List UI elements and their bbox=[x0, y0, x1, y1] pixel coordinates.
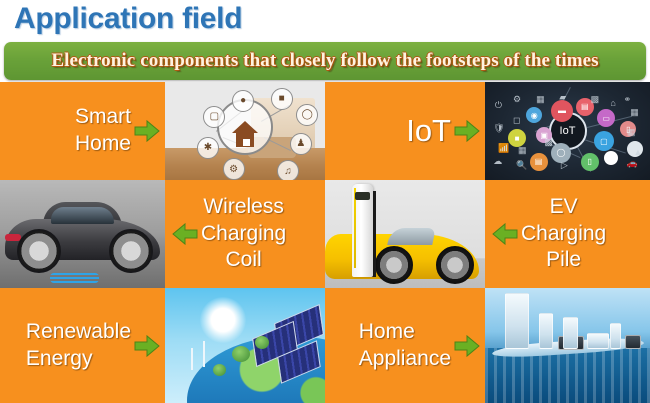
car-windshield bbox=[387, 228, 435, 245]
arrow-left-icon bbox=[492, 222, 518, 246]
cell-image-ev-charging bbox=[325, 180, 485, 288]
arrow-right-icon bbox=[454, 119, 480, 143]
wind-turbine bbox=[203, 341, 205, 367]
home-icon: ⌂ bbox=[610, 98, 615, 108]
tree-icon bbox=[213, 364, 226, 376]
label-line-1: Home bbox=[359, 320, 415, 343]
microwave bbox=[587, 333, 609, 349]
cell-iot[interactable]: IoT bbox=[325, 82, 485, 180]
smart-home-illustration: ● ■ ▢ ◯ ✱ ♟ ⚙ ♫ bbox=[165, 82, 325, 180]
arrow-right-icon bbox=[454, 334, 480, 358]
charging-pile-stripe bbox=[354, 188, 356, 268]
cell-label-iot: IoT bbox=[406, 111, 451, 151]
label-line-1: EV bbox=[550, 195, 578, 218]
keyboard-icon: ▦ bbox=[630, 107, 639, 118]
label-line-3: Coil bbox=[226, 248, 262, 271]
boiler bbox=[563, 317, 578, 349]
search-icon: 🔍 bbox=[516, 160, 527, 171]
bulb-icon: ◯ bbox=[296, 104, 318, 126]
refrigerator bbox=[505, 293, 529, 349]
sun-icon bbox=[200, 297, 246, 343]
label-line-3: Pile bbox=[546, 248, 581, 271]
cell-renewable-energy[interactable]: Renewable Energy bbox=[0, 288, 165, 403]
purifier bbox=[610, 323, 621, 349]
window-icon: ▦ bbox=[518, 145, 527, 156]
label-line-2: Appliance bbox=[359, 347, 451, 370]
shield-icon: 🛡 bbox=[493, 123, 504, 134]
yellow-car-charging-pile bbox=[325, 180, 485, 288]
label-line-2: Home bbox=[75, 132, 131, 155]
cell-smart-home[interactable]: Smart Home bbox=[0, 82, 165, 180]
wifi-icon: 📶 bbox=[498, 143, 509, 154]
label-line-2: Charging bbox=[201, 222, 286, 245]
charging-pile-display bbox=[355, 192, 371, 200]
gear-icon: ⚙ bbox=[223, 158, 245, 180]
arrow-right-icon bbox=[134, 119, 160, 143]
cell-image-home-appliance bbox=[485, 288, 650, 403]
bulb-icon: ⚭ bbox=[624, 94, 632, 105]
monitor-icon: ▬ bbox=[551, 100, 573, 122]
family-icon: ♟ bbox=[290, 133, 312, 155]
cell-image-wireless-charging bbox=[0, 180, 165, 288]
tablet-icon: ▢ bbox=[594, 131, 614, 151]
laptop-icon: ▭ bbox=[597, 109, 615, 127]
label-line-1: Renewable bbox=[26, 320, 131, 343]
tagline-text: Electronic components that closely follo… bbox=[51, 50, 598, 72]
car-side-icon: ▰ bbox=[559, 92, 566, 103]
cell-label-ev-charging-pile: EV Charging Pile bbox=[521, 194, 606, 275]
droplet-icon bbox=[604, 151, 618, 165]
cell-label-wireless-charging-coil: Wireless Charging Coil bbox=[201, 194, 286, 275]
security-camera-icon: ● bbox=[232, 90, 254, 112]
clipboard-icon: ▦ bbox=[627, 127, 636, 138]
watch-icon: ◻ bbox=[513, 115, 520, 126]
charging-pile bbox=[352, 184, 373, 277]
house-icon bbox=[232, 121, 258, 133]
wind-turbine bbox=[191, 348, 193, 370]
label-line-2: Energy bbox=[26, 347, 93, 370]
tree-icon bbox=[232, 346, 250, 362]
door-icon: ▦ bbox=[536, 94, 545, 105]
fridge-icon: ▢ bbox=[203, 106, 225, 128]
cell-label-smart-home: Smart Home bbox=[75, 104, 131, 158]
cell-home-appliance[interactable]: Home Appliance bbox=[325, 288, 485, 403]
cell-image-smart-home: ● ■ ▢ ◯ ✱ ♟ ⚙ ♫ bbox=[165, 82, 325, 180]
car-wheel bbox=[436, 246, 474, 284]
cell-label-renewable-energy: Renewable Energy bbox=[26, 319, 131, 373]
settings-icon: ⚙ bbox=[513, 94, 521, 105]
cell-image-renewable-energy bbox=[165, 288, 325, 403]
plug-icon: ■ bbox=[271, 88, 293, 110]
camera-icon: ◉ bbox=[526, 107, 542, 123]
iot-network-illustration: IoT ▬ ▤ ◉ ▭ ▯ ■ ▣ ▢ ◯ ▤ ▯ ⏻ ⚙ ▦ ▰ ▩ ⚭ 🛡 … bbox=[485, 82, 650, 180]
plug-icon: ⏻ bbox=[495, 100, 502, 111]
media-icon: ▷ bbox=[561, 160, 568, 171]
application-grid: Smart Home ● ■ ▢ ◯ ✱ ♟ ⚙ ♫ bbox=[0, 82, 650, 403]
graduation-icon: ▲ bbox=[634, 147, 643, 157]
cell-wireless-charging-coil[interactable]: Wireless Charging Coil bbox=[165, 180, 325, 288]
music-note-icon: ♫ bbox=[277, 160, 299, 180]
car-icon: 🚗 bbox=[627, 158, 638, 169]
speaker bbox=[625, 335, 641, 349]
arrow-left-icon bbox=[172, 222, 198, 246]
cloud-icon: ☁ bbox=[493, 156, 502, 167]
server-icon: ▤ bbox=[530, 153, 548, 171]
tagline-banner: Electronic components that closely follo… bbox=[4, 42, 646, 80]
wireless-charging-pad bbox=[50, 273, 100, 283]
car-wheel bbox=[17, 229, 61, 273]
tree-icon bbox=[255, 336, 269, 349]
car-wheel bbox=[375, 246, 413, 284]
cell-ev-charging-pile[interactable]: EV Charging Pile bbox=[485, 180, 650, 288]
label-line-1: Wireless bbox=[203, 195, 284, 218]
cell-image-iot: IoT ▬ ▤ ◉ ▭ ▯ ■ ▣ ▢ ◯ ▤ ▯ ⏻ ⚙ ▦ ▰ ▩ ⚭ 🛡 … bbox=[485, 82, 650, 180]
car-wheel bbox=[109, 229, 153, 273]
arrow-right-icon bbox=[134, 334, 160, 358]
water-heater bbox=[539, 313, 553, 349]
grey-sports-car bbox=[0, 180, 165, 288]
earth-solar-panels bbox=[165, 288, 325, 403]
home-appliances-city bbox=[485, 288, 650, 403]
label-line-2: Charging bbox=[521, 222, 606, 245]
tv-icon: ▩ bbox=[591, 94, 600, 105]
fan-icon: ✱ bbox=[197, 137, 219, 159]
cell-label-home-appliance: Home Appliance bbox=[359, 319, 451, 373]
page-title: Application field bbox=[14, 2, 242, 36]
label-line-1: Smart bbox=[75, 105, 131, 128]
car-window bbox=[51, 207, 114, 224]
chart-icon: ▩ bbox=[544, 137, 553, 148]
mobile-icon: ▯ bbox=[581, 153, 599, 171]
